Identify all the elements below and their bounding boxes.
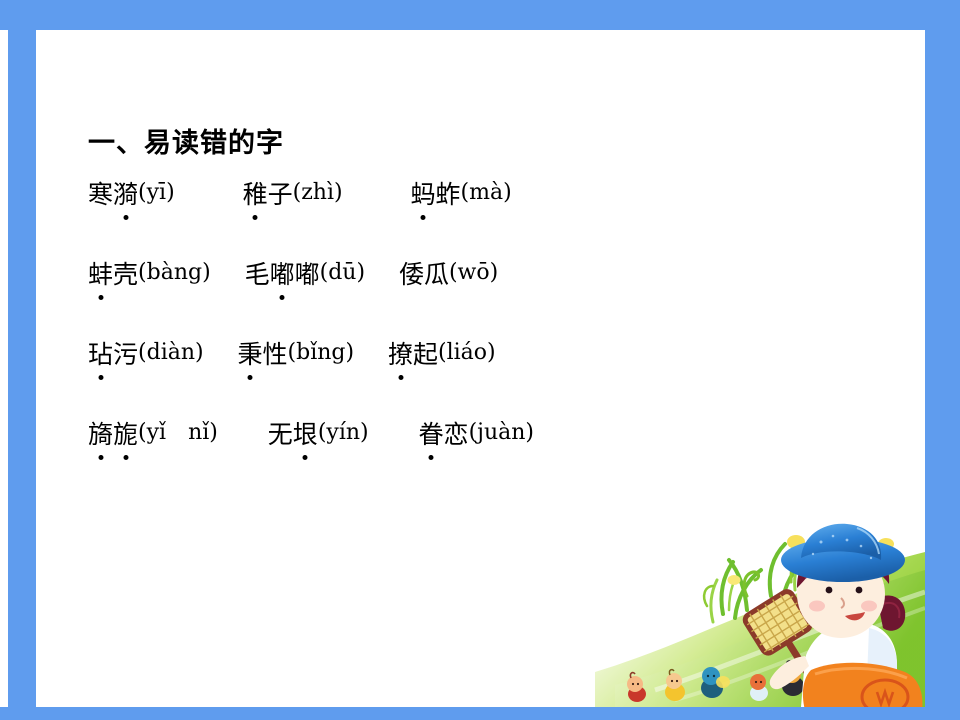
han-char-emphasized: 眷: [419, 422, 444, 447]
word-group: 无垠(yín): [268, 422, 369, 447]
word-group: 眷恋(juàn): [419, 422, 534, 447]
han-char-emphasized: 蚌: [88, 262, 113, 287]
pinyin: (yǐ nǐ): [138, 422, 218, 444]
word-group: 稚子(zhì): [243, 182, 343, 207]
slide-canvas: 一、易读错的字 漪 寒漪(yī) 稚子(zhì) 蚂蚱(mà) 蚌壳(bàng): [0, 0, 960, 720]
pinyin: (bàng): [138, 262, 211, 284]
han-char-emphasized: 蚂: [410, 182, 435, 207]
han-char: 性: [263, 342, 288, 367]
word-line-3: 玷污(diàn) 秉性(bǐng) 撩起(liáo): [88, 342, 708, 422]
cartoon-bugs: [627, 661, 804, 702]
han-char: 倭: [399, 262, 424, 287]
shorts: [803, 663, 923, 707]
han-char-emphasized: 稚: [243, 182, 268, 207]
han-char: 壳: [113, 262, 138, 287]
word-line-2: 蚌壳(bàng) 毛嘟嘟(dū) 倭瓜(wō): [88, 262, 708, 342]
content-panel: 一、易读错的字 漪 寒漪(yī) 稚子(zhì) 蚂蚱(mà) 蚌壳(bàng): [36, 30, 925, 707]
han-char: 瓜: [424, 262, 449, 287]
han-char-emphasized: 旎: [113, 422, 138, 447]
pinyin: (yín): [318, 422, 369, 444]
arm: [770, 656, 809, 689]
pinyin: (liáo): [438, 342, 496, 364]
text-content-area: 一、易读错的字 漪 寒漪(yī) 稚子(zhì) 蚂蚱(mà) 蚌壳(bàng): [88, 128, 708, 502]
child-figure: [770, 524, 923, 707]
han-char: 污: [113, 342, 138, 367]
han-char-emphasized: 旖: [88, 422, 113, 447]
word-line-1: 漪 寒漪(yī) 稚子(zhì) 蚂蚱(mà): [88, 182, 708, 262]
mouth: [845, 612, 865, 620]
hat-crown: [801, 524, 881, 560]
pinyin: (juàn): [469, 422, 534, 444]
frame-right-band: [925, 0, 960, 720]
han-char: 恋: [444, 422, 469, 447]
han-char-emphasized: 撩: [388, 342, 413, 367]
frame-top-band: [0, 0, 960, 30]
word-group: 旖旎(yǐ nǐ): [88, 422, 218, 447]
hair: [797, 540, 889, 588]
word-group: 漪 寒漪(yī): [88, 182, 175, 207]
shirt: [801, 622, 897, 707]
frame-outer-white-margin: [0, 30, 8, 707]
pinyin: (dū): [320, 262, 365, 284]
han-char-emphasized: 漪: [113, 182, 138, 207]
han-char: 子: [268, 182, 293, 207]
hill-shade: [615, 570, 925, 707]
ponytail: [877, 595, 905, 630]
word-line-4: 旖旎(yǐ nǐ) 无垠(yín) 眷恋(juàn): [88, 422, 708, 502]
page-title: 一、易读错的字: [88, 128, 708, 160]
eye-left: [826, 587, 833, 594]
word-group: 毛嘟嘟(dū): [245, 262, 365, 287]
word-group: 秉性(bǐng): [238, 342, 355, 367]
han-char-emphasized: 嘟: [270, 262, 295, 287]
decorative-illustration: [595, 522, 925, 707]
han-char: 嘟: [295, 262, 320, 287]
han-char: 毛: [245, 262, 270, 287]
word-group: 倭瓜(wō): [399, 262, 498, 287]
word-group: 蚂蚱(mà): [410, 182, 511, 207]
hat-brim: [781, 538, 905, 582]
han-char-emphasized: 垠: [293, 422, 318, 447]
pinyin: (bǐng): [288, 342, 355, 364]
frame-left-band: [8, 0, 36, 720]
word-group: 撩起(liáo): [388, 342, 496, 367]
han-char-emphasized: 秉: [238, 342, 263, 367]
hill-shape: [595, 552, 925, 707]
bug-net-icon: [743, 589, 845, 707]
face: [797, 550, 885, 638]
han-char: 无: [268, 422, 293, 447]
han-char: 寒: [88, 182, 113, 207]
child-catching-bugs-icon: [595, 522, 925, 707]
pinyin: (wō): [449, 262, 498, 284]
word-group: 玷污(diàn): [88, 342, 204, 367]
pinyin: (diàn): [138, 342, 204, 364]
pinyin: (zhì): [293, 182, 343, 204]
pinyin: (mà): [461, 182, 512, 204]
word-group: 蚌壳(bàng): [88, 262, 211, 287]
han-char: 蚱: [436, 182, 461, 207]
han-char: 起: [413, 342, 438, 367]
han-char-emphasized: 玷: [88, 342, 113, 367]
eye-right: [856, 587, 863, 594]
pinyin: (yī): [138, 182, 175, 204]
frame-bottom-band: [0, 707, 960, 720]
